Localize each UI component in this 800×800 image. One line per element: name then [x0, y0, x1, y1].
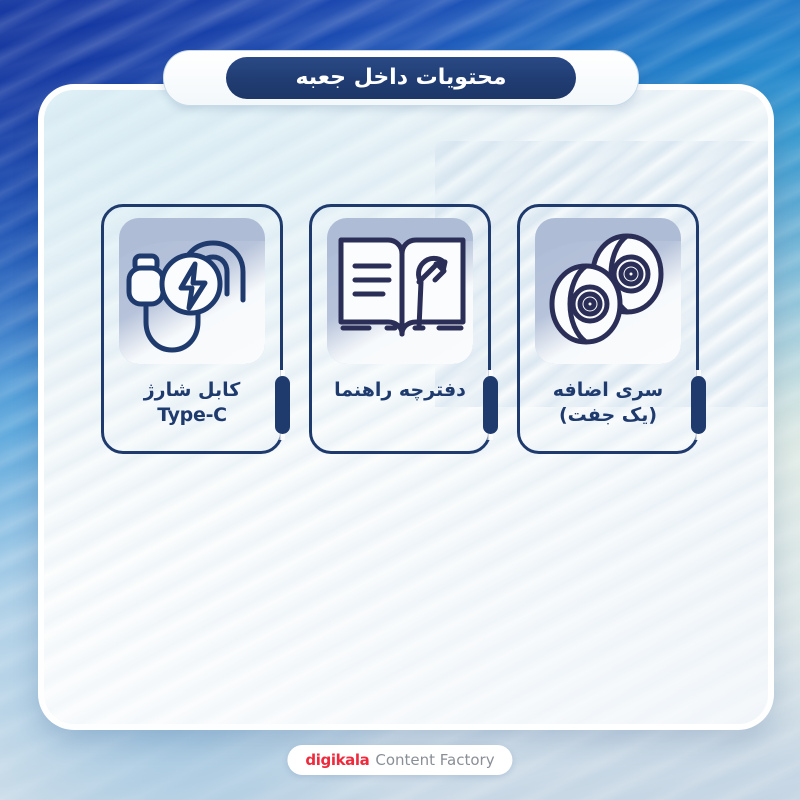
- footer-watermark: digikala Content Factory: [287, 745, 512, 775]
- card-label-line1: دفترچه راهنما: [334, 379, 466, 401]
- digikala-logo-text: digikala: [305, 751, 369, 769]
- card-label-line2: (یک جفت): [521, 403, 695, 428]
- card-label: دفترچه راهنما: [313, 378, 487, 403]
- card-extra-ear-tips[interactable]: سری اضافه (یک جفت): [517, 204, 699, 454]
- card-user-manual[interactable]: دفترچه راهنما: [309, 204, 491, 454]
- usb-c-cable-icon: [115, 210, 273, 370]
- card-label-line1: سری اضافه: [553, 379, 664, 401]
- manual-book-wrench-icon: [323, 210, 481, 370]
- infographic-canvas: محتویات داخل جعبه: [0, 0, 800, 800]
- card-label: سری اضافه (یک جفت): [521, 378, 695, 428]
- page-title: محتویات داخل جعبه: [295, 67, 506, 89]
- header-pill: محتویات داخل جعبه: [226, 57, 576, 99]
- cards-row: سری اضافه (یک جفت): [0, 0, 800, 800]
- content-factory-label: Content Factory: [375, 751, 494, 769]
- card-charging-cable[interactable]: کابل شارژ Type-C: [101, 204, 283, 454]
- card-accent-tab: [691, 376, 706, 434]
- header-pill-outer: محتویات داخل جعبه: [163, 50, 639, 106]
- card-accent-tab: [483, 376, 498, 434]
- card-accent-tab: [275, 376, 290, 434]
- card-label-line2: Type-C: [105, 403, 279, 428]
- card-label: کابل شارژ Type-C: [105, 378, 279, 428]
- ear-tips-icon: [531, 210, 689, 370]
- card-label-line1: کابل شارژ: [144, 379, 241, 401]
